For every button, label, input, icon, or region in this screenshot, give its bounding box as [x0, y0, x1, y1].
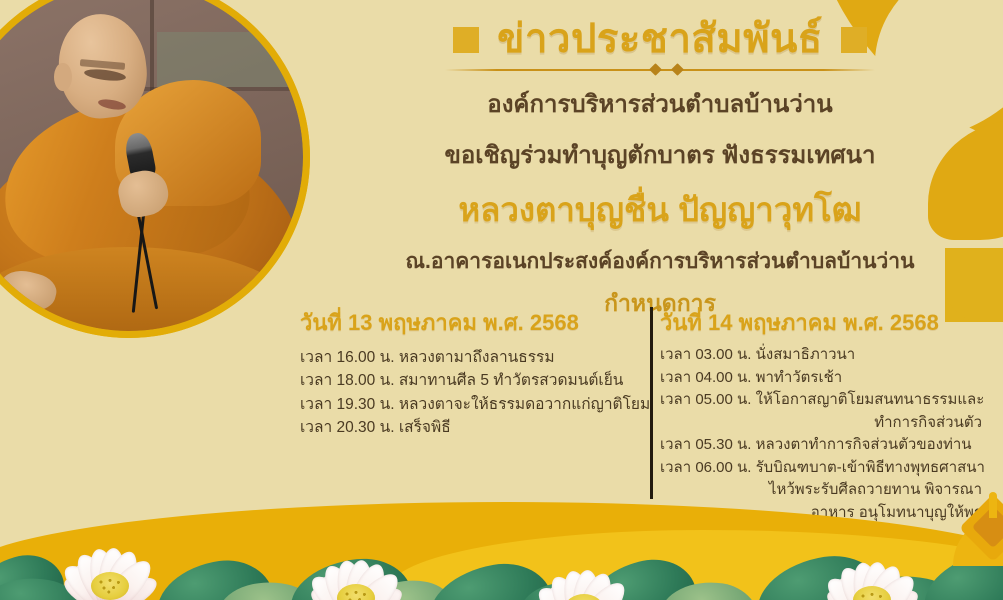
poster-header: ข่าวประชาสัมพันธ์ องค์การบริหารส่วนตำบลบ…	[330, 18, 990, 322]
list-item: เวลา 19.30 น. หลวงตาจะให้ธรรมดอวากแก่ญาต…	[300, 393, 626, 416]
list-item: เวลา 06.00 น. รับบิณฑบาต-เข้าพิธีทางพุทธ…	[660, 457, 990, 480]
quatrefoil-right-icon	[841, 27, 867, 53]
lotus-leaf	[580, 551, 702, 600]
lotus-leaf	[423, 556, 558, 600]
monk-portrait	[0, 0, 310, 338]
lotus-leaf	[751, 548, 890, 600]
lotus-leaf	[151, 554, 278, 600]
list-item: เวลา 20.30 น. เสร็จพิธี	[300, 416, 626, 439]
title-row: ข่าวประชาสัมพันธ์	[330, 18, 990, 61]
venue-line: ณ.อาคารอเนกประสงค์องค์การบริหารส่วนตำบลบ…	[330, 245, 990, 278]
lotus-flower	[808, 534, 936, 600]
poster-canvas: ข่าวประชาสัมพันธ์ องค์การบริหารส่วนตำบลบ…	[0, 0, 1003, 600]
day2-event-list: เวลา 03.00 น. นั่งสมาธิภาวนา เวลา 04.00 …	[660, 344, 990, 524]
schedule-column-day1: วันที่ 13 พฤษภาคม พ.ศ. 2568 เวลา 16.00 น…	[300, 305, 640, 515]
lotus-leaf	[656, 575, 764, 600]
list-item: เวลา 03.00 น. นั่งสมาธิภาวนา	[660, 344, 990, 367]
lotus-leaf	[0, 569, 95, 600]
schedule-column-day2: วันที่ 14 พฤษภาคม พ.ศ. 2568 เวลา 03.00 น…	[640, 305, 990, 515]
lotus-flower	[520, 542, 648, 600]
lotus-leaf	[287, 554, 416, 600]
lotus-flower	[292, 532, 420, 600]
day2-title: วันที่ 14 พฤษภาคม พ.ศ. 2568	[660, 305, 990, 340]
monk-name: หลวงตาบุญชื่น ปัญญาวุทโฒ	[330, 183, 990, 236]
list-item: เวลา 16.00 น. หลวงตามาถึงลานธรรม	[300, 346, 626, 369]
list-item: เวลา 05.30 น. หลวงตาทำการกิจส่วนตัวของท่…	[660, 434, 990, 457]
list-item: เวลา 05.00 น. ให้โอกาสญาติโยมสนทนาธรรมแล…	[660, 389, 990, 412]
gold-band-highlight	[390, 530, 1003, 600]
quatrefoil-left-icon	[453, 27, 479, 53]
list-item: ไหว้พระรับศีลถวายทาน พิจารณา	[660, 479, 990, 502]
lotus-leaf	[915, 543, 1003, 600]
title-underline-ornament	[445, 64, 875, 76]
lotus-flower	[46, 520, 174, 600]
list-item: เวลา 18.00 น. สมาทานศีล 5 ทำวัตรสวดมนต์เ…	[300, 369, 626, 392]
list-item: อาหาร อนุโมทนาบุญให้พร	[660, 502, 990, 525]
page-title: ข่าวประชาสัมพันธ์	[497, 18, 823, 61]
lotus-leaf	[0, 546, 71, 600]
lotus-leaf	[359, 573, 464, 600]
lotus-leaf	[844, 564, 977, 600]
day1-event-list: เวลา 16.00 น. หลวงตามาถึงลานธรรม เวลา 18…	[300, 346, 626, 439]
schedule-section: วันที่ 13 พฤษภาคม พ.ศ. 2568 เวลา 16.00 น…	[300, 305, 1000, 515]
lotus-leaf	[212, 572, 332, 600]
organization-name: องค์การบริหารส่วนตำบลบ้านว่าน	[330, 84, 990, 123]
lotus-leaf	[513, 569, 644, 600]
day1-title: วันที่ 13 พฤษภาคม พ.ศ. 2568	[300, 305, 626, 340]
invitation-line: ขอเชิญร่วมทำบุญตักบาตร ฟังธรรมเทศนา	[330, 135, 990, 174]
list-item: เวลา 04.00 น. พาทำวัตรเช้า	[660, 367, 990, 390]
list-item: ทำการกิจส่วนตัว	[660, 412, 990, 435]
